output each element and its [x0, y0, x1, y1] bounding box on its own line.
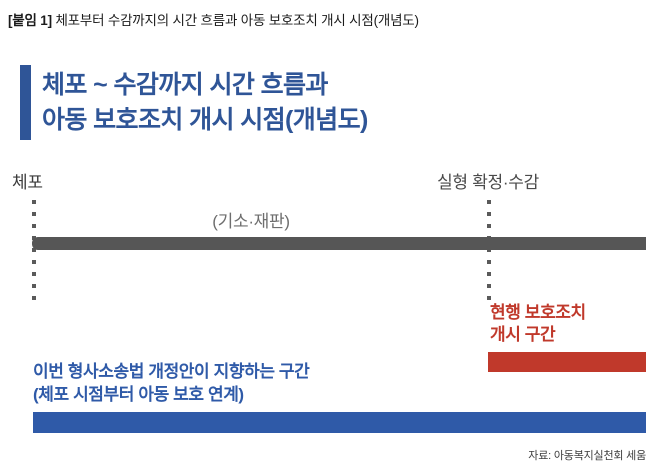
- proposed-segment-label-line-1: 이번 형사소송법 개정안이 지향하는 구간: [33, 360, 633, 383]
- source-note: 자료: 아동복지실천회 세움: [528, 449, 646, 464]
- caption-tag: [붙임 1]: [8, 13, 52, 28]
- page-title-line-1: 체포 ~ 수감까지 시간 흐름과: [42, 68, 642, 103]
- heading-accent-bar: [20, 65, 31, 140]
- figure-container: [붙임 1] 체포부터 수감까지의 시간 흐름과 아동 보호조치 개시 시점(개…: [0, 0, 660, 474]
- timeline-axis-bar: [32, 237, 646, 250]
- current-segment-label-line-1: 현행 보호조치: [490, 302, 655, 324]
- proposed-segment-label: 이번 형사소송법 개정안이 지향하는 구간 (체포 시점부터 아동 보호 연계): [33, 360, 633, 406]
- current-segment-label-line-2: 개시 구간: [490, 324, 655, 346]
- current-segment-label: 현행 보호조치 개시 구간: [490, 302, 655, 346]
- page-title-line-2: 아동 보호조치 개시 시점(개념도): [42, 103, 642, 138]
- guide-line-sentence: [487, 200, 491, 300]
- timeline-start-label: 체포: [12, 172, 43, 194]
- proposed-segment-bar: [33, 412, 646, 433]
- timeline-end-label: 실형 확정·수감: [437, 172, 539, 194]
- caption-text: 체포부터 수감까지의 시간 흐름과 아동 보호조치 개시 시점(개념도): [52, 13, 419, 28]
- guide-line-arrest: [32, 200, 36, 300]
- timeline-phase-label: (기소·재판): [212, 211, 289, 233]
- page-title: 체포 ~ 수감까지 시간 흐름과 아동 보호조치 개시 시점(개념도): [42, 68, 642, 138]
- figure-caption: [붙임 1] 체포부터 수감까지의 시간 흐름과 아동 보호조치 개시 시점(개…: [8, 11, 652, 31]
- proposed-segment-label-line-2: (체포 시점부터 아동 보호 연계): [33, 383, 633, 406]
